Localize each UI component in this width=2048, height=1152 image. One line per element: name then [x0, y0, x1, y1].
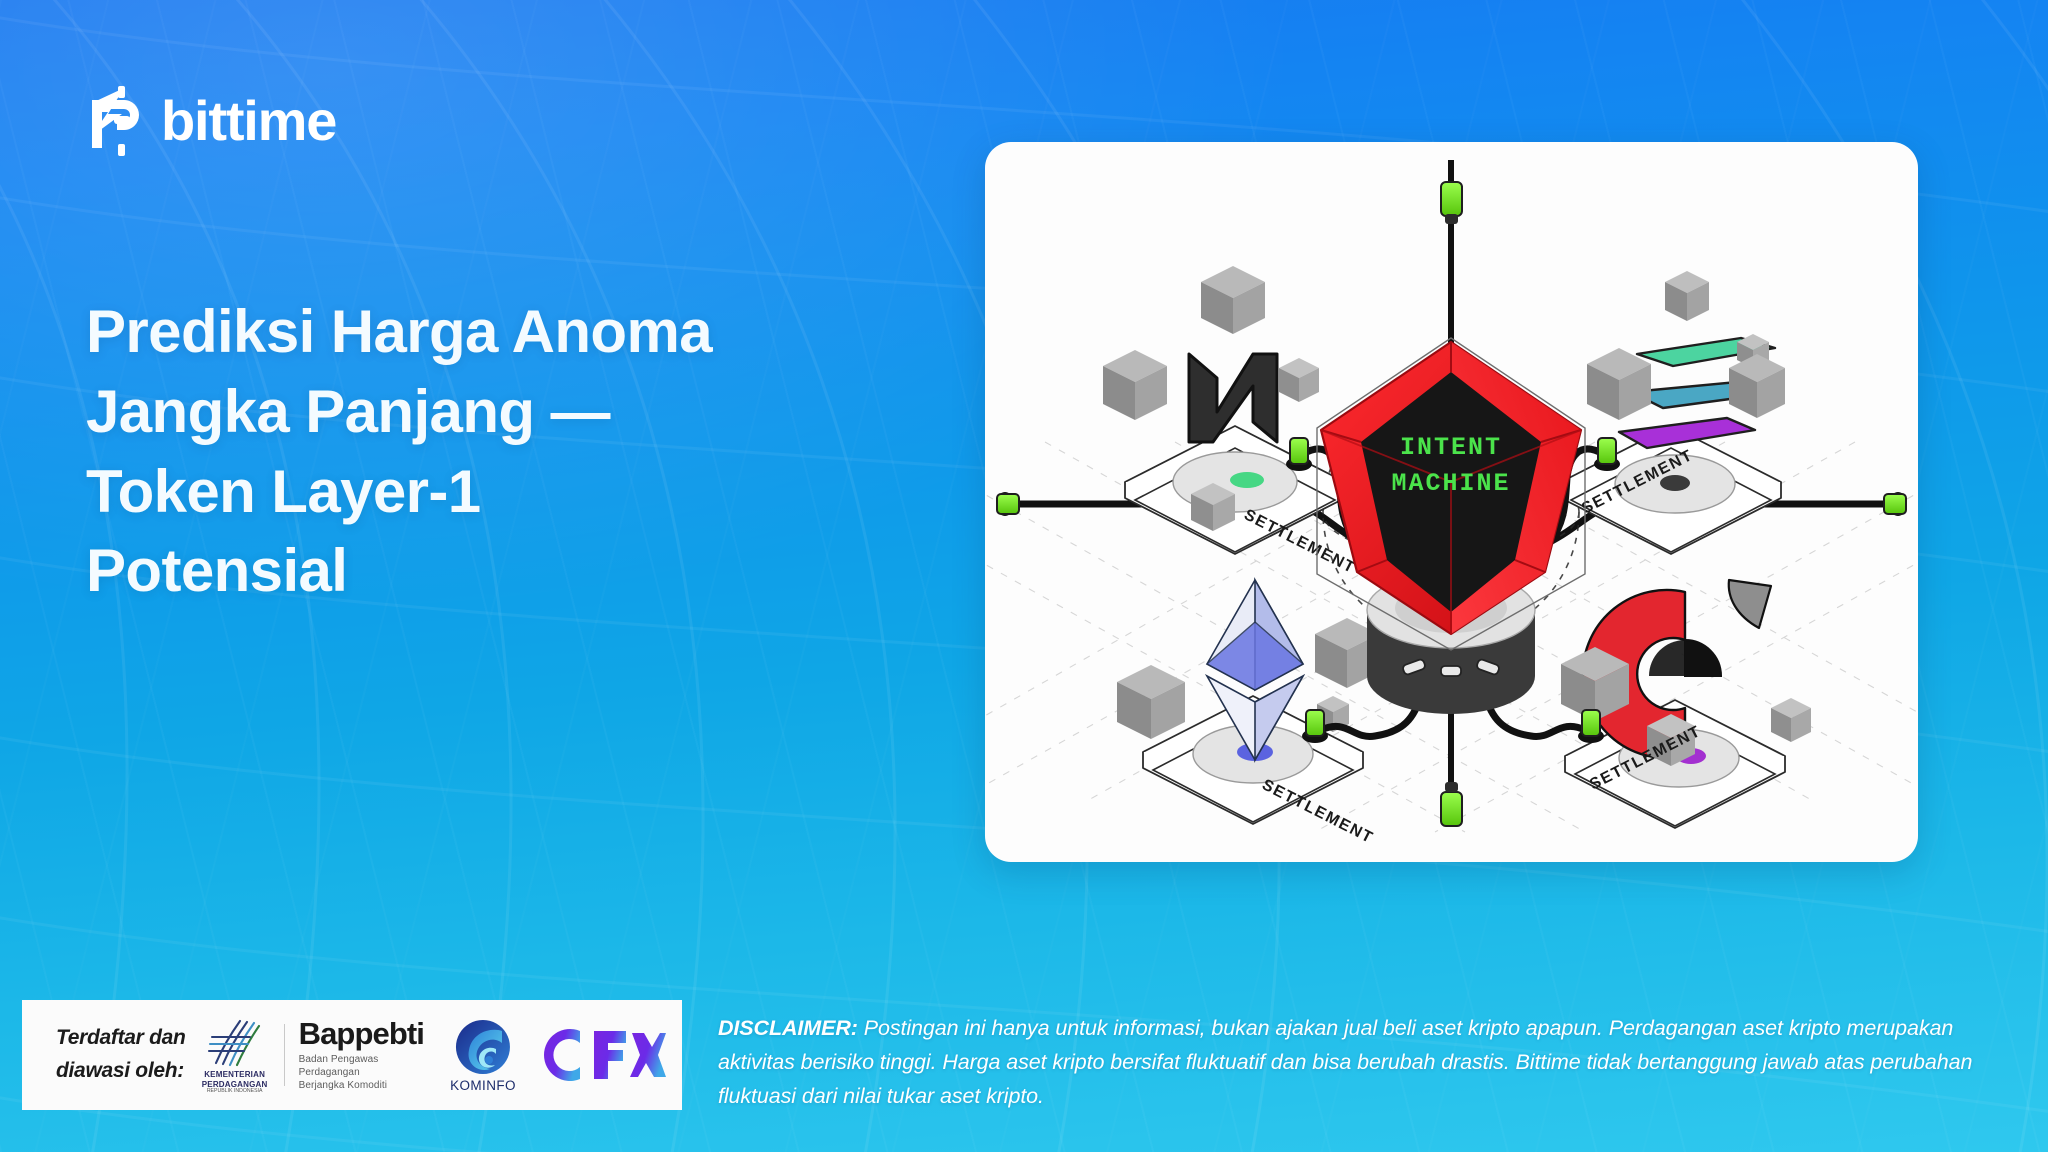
bittime-logo[interactable]: bittime — [86, 86, 336, 156]
headline-line-1: Prediksi Harga Anoma — [86, 292, 986, 372]
disclaimer-body: Postingan ini hanya untuk informasi, buk… — [718, 1016, 1972, 1108]
regulatory-label-line-2: diawasi oleh: — [56, 1055, 186, 1088]
cfx-logo — [540, 1027, 666, 1083]
kemendag-text: KEMENTERIAN PERDAGANGAN REPUBLIK INDONES… — [202, 1070, 268, 1094]
bappebti-sub-line-2: Berjangka Komoditi — [299, 1079, 424, 1092]
core-label-line-1: INTENT — [1400, 433, 1502, 462]
bappebti-sub-line-1: Badan Pengawas Perdagangan — [299, 1053, 424, 1079]
floating-cube — [1665, 271, 1709, 321]
anoma-intent-machine-diagram: SETTLEMENT — [985, 142, 1918, 862]
core-label-line-2: MACHINE — [1391, 469, 1510, 498]
page-title: Prediksi Harga Anoma Jangka Panjang — To… — [86, 292, 986, 611]
bittime-wordmark: bittime — [161, 93, 336, 149]
headline-line-3: Token Layer-1 — [86, 452, 986, 532]
disclaimer-text: DISCLAIMER: Postingan ini hanya untuk in… — [718, 1012, 2026, 1114]
badge-divider — [284, 1024, 285, 1086]
connector-plug-left — [996, 492, 1019, 516]
headline-line-4: Potensial — [86, 531, 986, 611]
floating-cube — [1729, 354, 1785, 418]
connector-plug-bottom — [1441, 782, 1462, 826]
bappebti-subtitle: Badan Pengawas Perdagangan Berjangka Kom… — [299, 1053, 424, 1092]
settlement-node-top-left: SETTLEMENT — [1103, 266, 1358, 577]
floating-cube — [1587, 348, 1651, 420]
kominfo-swirl-icon — [450, 1017, 516, 1077]
floating-cube — [1117, 665, 1185, 739]
connector-plug-node-bottom-right — [1578, 710, 1604, 743]
regulatory-badge-strip: Terdaftar dan diawasi oleh: KEMENTERIAN … — [22, 1000, 682, 1110]
kemendag-line-1: KEMENTERIAN — [202, 1070, 268, 1079]
kominfo-logo: KOMINFO — [450, 1017, 516, 1093]
regulatory-label-line-1: Terdaftar dan — [56, 1022, 186, 1055]
node-accent-glow-top-left — [1230, 472, 1264, 488]
connector-plug-top — [1441, 182, 1462, 224]
headline-line-2: Jangka Panjang — — [86, 372, 986, 452]
kemendag-line-3: REPUBLIK INDONESIA — [202, 1089, 268, 1095]
floating-cube — [1771, 698, 1811, 742]
kominfo-name: KOMINFO — [450, 1078, 516, 1093]
floating-cube — [1201, 266, 1265, 334]
kemendag-logo: KEMENTERIAN PERDAGANGAN REPUBLIK INDONES… — [200, 1015, 270, 1094]
connector-plug-node-bottom-left — [1302, 710, 1328, 743]
floating-cube — [1279, 358, 1319, 402]
connector-plug-node-top-left — [1286, 438, 1312, 471]
kemendag-wheat-icon — [206, 1015, 264, 1067]
cfx-wordmark-icon — [540, 1027, 666, 1083]
intent-machine-core: INTENT MACHINE — [1317, 338, 1585, 650]
floating-cube — [1103, 350, 1167, 420]
illustration-card: SETTLEMENT — [985, 142, 1918, 862]
bittime-b-mark — [86, 86, 148, 156]
disclaimer-prefix: DISCLAIMER: — [718, 1016, 858, 1040]
regulatory-label: Terdaftar dan diawasi oleh: — [38, 1022, 200, 1087]
bappebti-name: Bappebti — [299, 1018, 424, 1049]
bappebti-logo: Bappebti Badan Pengawas Perdagangan Berj… — [299, 1018, 424, 1092]
connector-plug-node-top-right — [1594, 438, 1620, 471]
connector-plug-right — [1884, 492, 1907, 516]
